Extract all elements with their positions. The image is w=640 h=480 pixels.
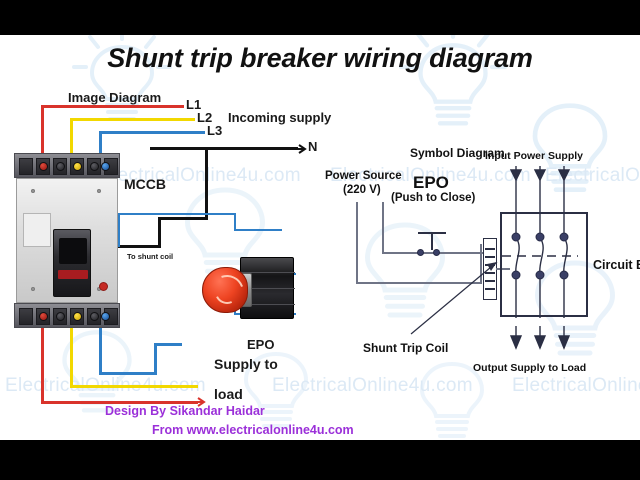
epo-contact-node-left — [417, 249, 424, 256]
input-supply-arrows-icon — [508, 166, 588, 216]
epo-actuator-stem — [431, 232, 433, 250]
epo-contact-node-right — [433, 249, 440, 256]
label-epo-push-to-close: (Push to Close) — [391, 192, 475, 205]
mccb-test-button — [99, 282, 108, 291]
mccb-body — [16, 178, 118, 303]
page-title: Shunt trip breaker wiring diagram — [0, 43, 640, 74]
label-shunt-trip-coil: Shunt Trip Coil — [363, 342, 448, 356]
label-incoming-supply: Incoming supply — [228, 111, 331, 126]
source-lead-right — [382, 202, 384, 254]
label-output-supply-to-load: Output Supply to Load — [473, 362, 586, 374]
breaker-poles-icon — [500, 212, 590, 318]
wire-l3-horizontal — [99, 131, 205, 134]
wire-neutral-elbow-v — [158, 217, 161, 248]
label-l3: L3 — [207, 124, 222, 139]
credit-source: From www.electricalonline4u.com — [152, 423, 354, 437]
label-epo-symbol: EPO — [413, 173, 449, 193]
neutral-arrow-icon — [294, 142, 308, 156]
label-n: N — [308, 140, 317, 155]
mccb-handle — [53, 229, 91, 297]
wire-load-l1-v — [41, 323, 44, 404]
letterbox-bottom — [0, 440, 640, 480]
epo-mushroom-head — [202, 267, 248, 313]
mccb-breaker-image — [14, 153, 120, 328]
wire-load-l2-v — [70, 323, 73, 388]
diagram-canvas: ElectricalOnline4u.com ElectricalOnline4… — [0, 35, 640, 440]
label-circuit-breaker: Circuit Breaker — [593, 258, 640, 272]
wire-epo-top-h — [118, 213, 236, 215]
label-epo: EPO — [247, 338, 274, 353]
wire-load-l3-h — [99, 372, 157, 375]
image-diagram-heading: Image Diagram — [68, 91, 161, 106]
wire-neutral-drop — [205, 147, 208, 220]
symbol-diagram-heading: Symbol Diagram — [410, 147, 505, 161]
wire-neutral-horizontal — [150, 147, 298, 150]
epo-pushbutton-image — [202, 257, 294, 327]
credit-designer: Design By Sikandar Haidar — [105, 404, 265, 418]
wire-load-l2-h — [70, 385, 198, 388]
wire-to-shunt-coil — [118, 245, 161, 248]
screenshot-root: ElectricalOnline4u.com ElectricalOnline4… — [0, 0, 640, 480]
wire-load-l3-top — [154, 343, 182, 346]
symbol-diagram: Power Source (220 V) EPO (Push to Close) — [325, 130, 635, 395]
label-power-source-line2: (220 V) — [343, 184, 381, 197]
wire-load-l3-up — [154, 343, 157, 375]
wire-l2-horizontal — [70, 118, 195, 121]
wire-neutral-elbow-h — [158, 217, 208, 220]
wire-epo-top-in — [234, 229, 282, 231]
label-supply-to-load-line2: load — [214, 387, 243, 403]
label-to-shunt-coil: To shunt coil — [127, 253, 173, 261]
mccb-top-terminal-block — [14, 153, 120, 178]
mccb-bottom-terminal-block — [14, 303, 120, 328]
shunt-coil-leader-line — [405, 260, 500, 338]
source-lead-left — [356, 202, 358, 284]
wire-load-l3-v — [99, 323, 102, 375]
label-mccb: MCCB — [124, 177, 166, 193]
letterbox-top — [0, 0, 640, 35]
label-supply-to-load-line1: Supply to — [214, 357, 278, 373]
label-power-source-line1: Power Source — [325, 170, 402, 183]
